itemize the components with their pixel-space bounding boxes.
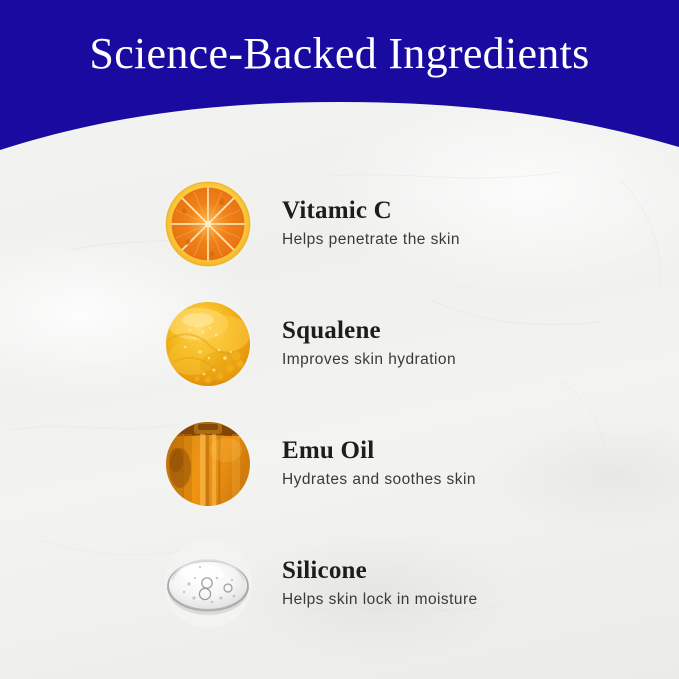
ingredient-text: Vitamic C Helps penetrate the skin xyxy=(282,197,460,251)
list-item: Silicone Helps skin lock in moisture xyxy=(0,524,679,644)
list-item: Squalene Improves skin hydration xyxy=(0,284,679,404)
ingredient-name: Silicone xyxy=(282,557,478,585)
header-curved-shape xyxy=(0,0,679,160)
ingredient-name: Emu Oil xyxy=(282,437,476,465)
gel-droplet-icon xyxy=(164,540,252,628)
ingredient-description: Helps skin lock in moisture xyxy=(282,590,478,609)
ingredient-text: Emu Oil Hydrates and soothes skin xyxy=(282,437,476,491)
ingredient-text: Squalene Improves skin hydration xyxy=(282,317,456,371)
clear-gel-droplet-photo xyxy=(164,540,252,628)
orange-slice-icon xyxy=(164,180,252,268)
ingredient-list: Vitamic C Helps penetrate the skin xyxy=(0,164,679,644)
ingredient-name: Vitamic C xyxy=(282,197,460,225)
orange-slice-photo xyxy=(164,180,252,268)
oil-droplet-icon xyxy=(164,300,252,388)
amber-oil-bottle-photo xyxy=(164,420,252,508)
list-item: Emu Oil Hydrates and soothes skin xyxy=(0,404,679,524)
header-banner: Science-Backed Ingredients xyxy=(0,0,679,160)
list-item: Vitamic C Helps penetrate the skin xyxy=(0,164,679,284)
ingredient-description: Improves skin hydration xyxy=(282,350,456,369)
page-title: Science-Backed Ingredients xyxy=(0,28,679,80)
ingredient-description: Hydrates and soothes skin xyxy=(282,470,476,489)
golden-oil-droplet-photo xyxy=(164,300,252,388)
ingredient-name: Squalene xyxy=(282,317,456,345)
amber-oil-icon xyxy=(164,420,252,508)
ingredient-description: Helps penetrate the skin xyxy=(282,230,460,249)
ingredient-text: Silicone Helps skin lock in moisture xyxy=(282,557,478,611)
infographic-canvas: Science-Backed Ingredients xyxy=(0,0,679,679)
